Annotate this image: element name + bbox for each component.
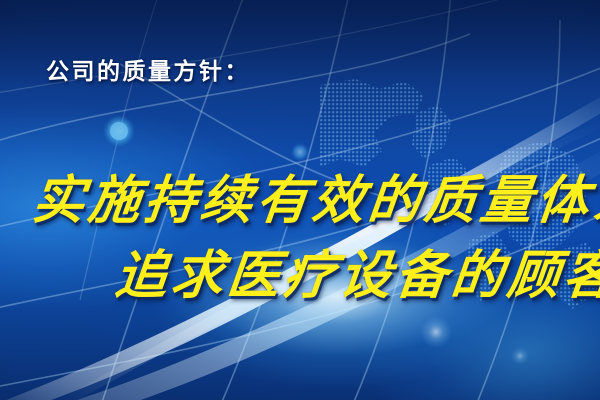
- policy-line-2: 追求医疗设备的顾客满意: [112, 233, 600, 308]
- quality-policy-banner: 公司的质量方针： 实施持续有效的质量体系 追求医疗设备的顾客满意: [0, 0, 600, 400]
- policy-line-1: 实施持续有效的质量体系: [29, 158, 600, 233]
- page-title: 公司的质量方针：: [46, 52, 250, 86]
